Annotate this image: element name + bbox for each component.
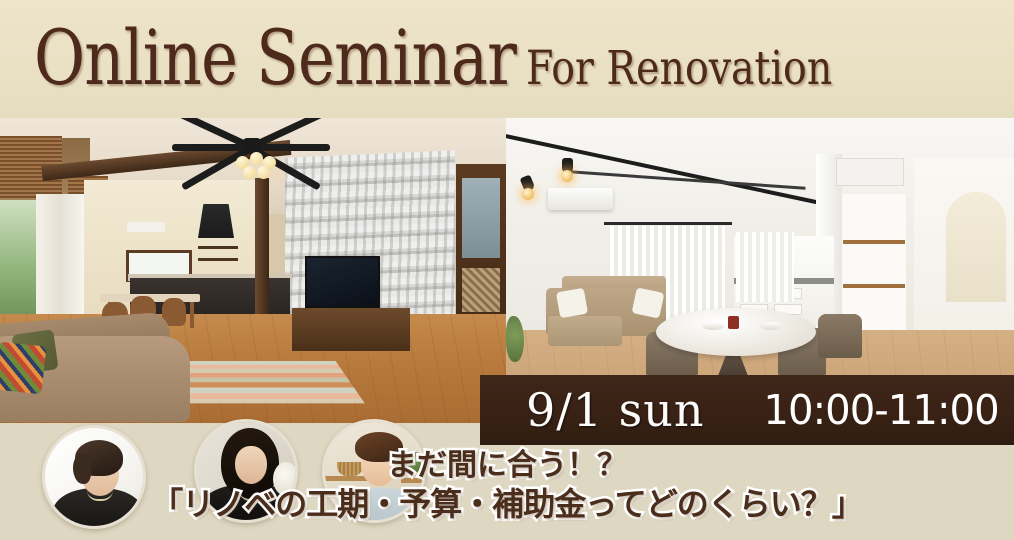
catch-copy-line-1: まだ間に合う！？ xyxy=(0,448,1014,484)
seminar-time: 10:00-11:00 xyxy=(763,386,998,434)
date-time-band: 9/1 sun 10:00-11:00 xyxy=(480,375,1014,445)
seminar-banner: Online Seminar For Renovation xyxy=(0,0,1014,540)
right-interior-photo xyxy=(506,118,1014,398)
banner-header: Online Seminar For Renovation xyxy=(0,0,1014,118)
seminar-date: 9/1 sun xyxy=(526,383,705,437)
page-subtitle: For Renovation xyxy=(526,19,832,119)
catch-copy-line-2: 「リノベの工期・予算・補助金ってどのくらい？」 xyxy=(0,484,1014,524)
title-row: Online Seminar For Renovation xyxy=(34,8,891,119)
catch-copy: まだ間に合う！？ 「リノベの工期・予算・補助金ってどのくらい？」 xyxy=(0,448,1014,524)
left-interior-photo xyxy=(0,118,506,423)
page-title: Online Seminar xyxy=(34,8,516,108)
